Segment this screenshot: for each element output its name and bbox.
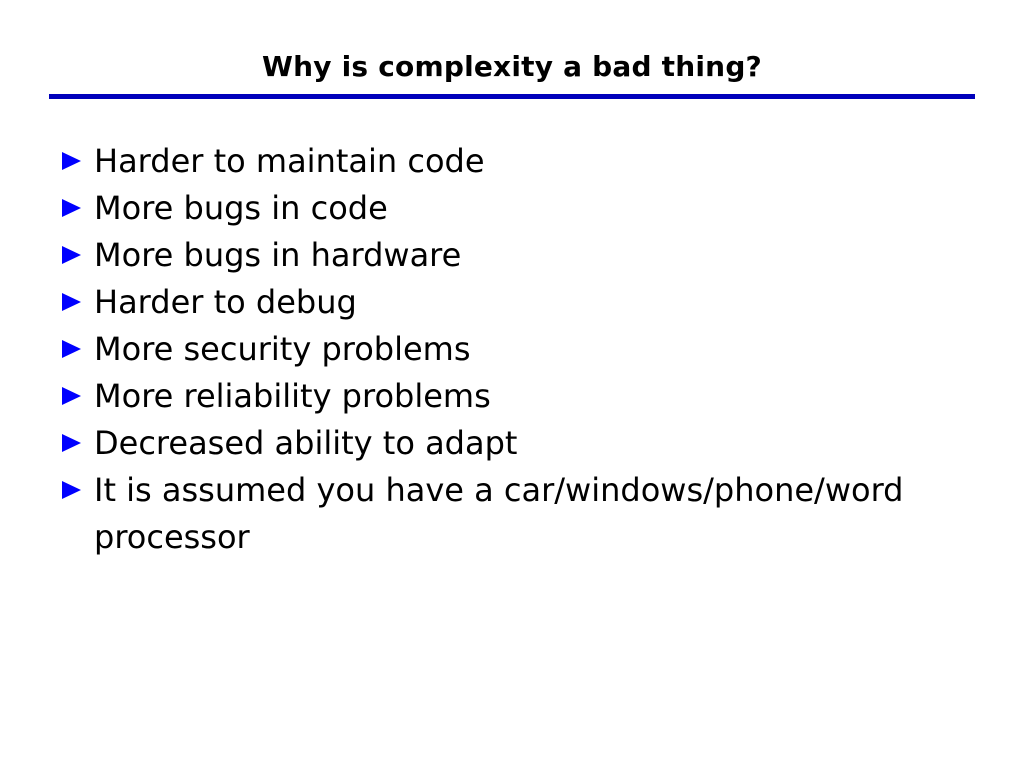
- triangle-right-bullet-icon: [62, 481, 81, 499]
- list-item: More reliability problems: [60, 373, 960, 420]
- list-item-label: Harder to debug: [94, 279, 960, 326]
- list-item-label: More bugs in hardware: [94, 232, 960, 279]
- list-item: Harder to maintain code: [60, 138, 960, 185]
- list-item: It is assumed you have a car/windows/pho…: [60, 467, 960, 561]
- list-item-label: Decreased ability to adapt: [94, 420, 960, 467]
- page-title: Why is complexity a bad thing?: [49, 50, 975, 84]
- list-item: Harder to debug: [60, 279, 960, 326]
- presentation-slide: Why is complexity a bad thing? Harder to…: [0, 0, 1024, 768]
- list-item-label: More bugs in code: [94, 185, 960, 232]
- title-divider-rule: [49, 94, 975, 99]
- list-item-label: More reliability problems: [94, 373, 960, 420]
- triangle-right-bullet-icon: [62, 387, 81, 405]
- list-item: More security problems: [60, 326, 960, 373]
- triangle-right-bullet-icon: [62, 434, 81, 452]
- list-item-label: Harder to maintain code: [94, 138, 960, 185]
- list-item: Decreased ability to adapt: [60, 420, 960, 467]
- triangle-right-bullet-icon: [62, 293, 81, 311]
- triangle-right-bullet-icon: [62, 199, 81, 217]
- list-item: More bugs in code: [60, 185, 960, 232]
- list-item-label: It is assumed you have a car/windows/pho…: [94, 467, 960, 561]
- triangle-right-bullet-icon: [62, 152, 81, 170]
- list-item-label: More security problems: [94, 326, 960, 373]
- list-item: More bugs in hardware: [60, 232, 960, 279]
- triangle-right-bullet-icon: [62, 340, 81, 358]
- triangle-right-bullet-icon: [62, 246, 81, 264]
- bullet-list: Harder to maintain code More bugs in cod…: [60, 138, 960, 561]
